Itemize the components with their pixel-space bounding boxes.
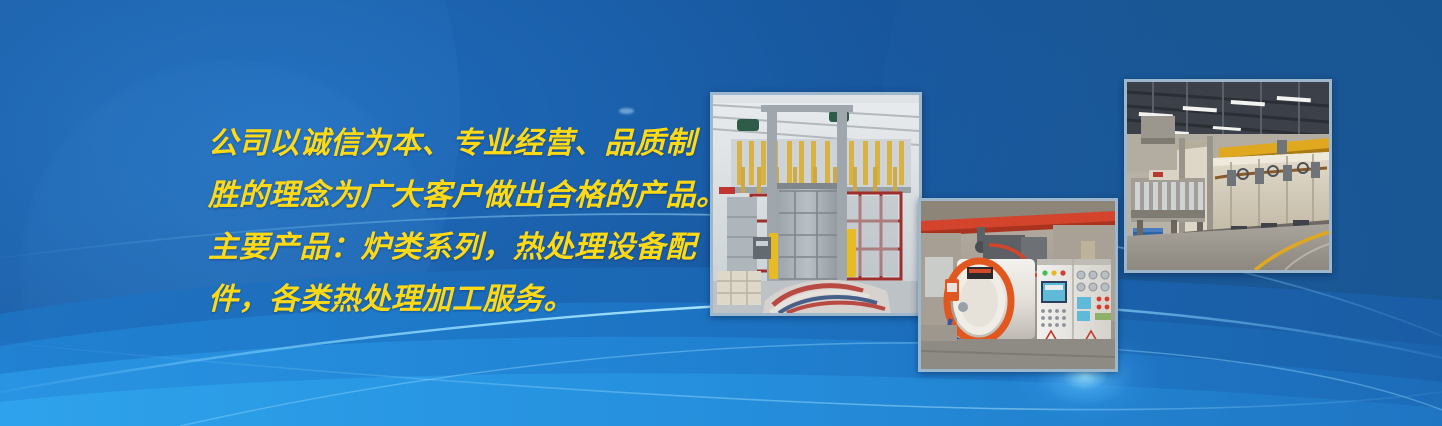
headline-line-1: 公司以诚信为本、专业经营、品质制 <box>208 118 728 170</box>
photo-well-furnace <box>710 92 922 316</box>
headline-line-4: 件，各类热处理加工服务。 <box>208 274 728 326</box>
photo-furnace-line <box>1124 79 1332 273</box>
headline-line-3: 主要产品：炉类系列，热处理设备配 <box>208 222 728 274</box>
headline-line-2: 胜的理念为广大客户做出合格的产品。 <box>208 170 728 222</box>
company-promo-banner: 公司以诚信为本、专业经营、品质制 胜的理念为广大客户做出合格的产品。 主要产品：… <box>0 0 1442 426</box>
promo-headline: 公司以诚信为本、专业经营、品质制 胜的理念为广大客户做出合格的产品。 主要产品：… <box>208 118 728 326</box>
background-light-speck <box>619 108 634 114</box>
photo-vacuum-furnace <box>918 198 1118 372</box>
